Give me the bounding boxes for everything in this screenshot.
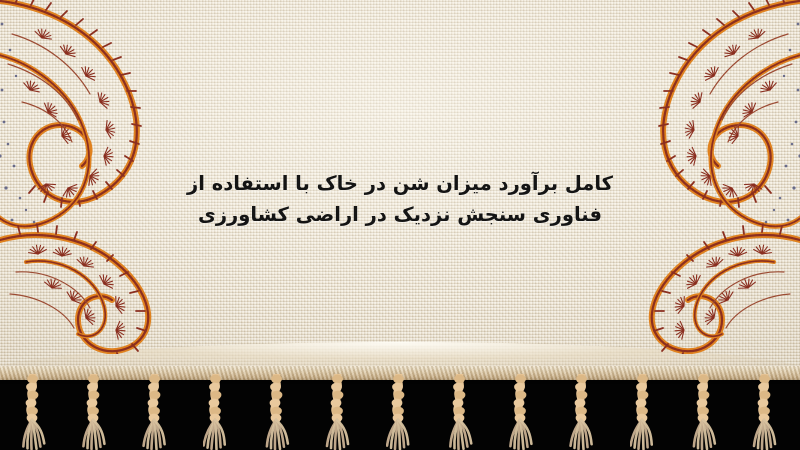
- tassel: [752, 374, 778, 450]
- tassel: [569, 374, 595, 450]
- tassel: [81, 374, 107, 450]
- tassel: [325, 374, 351, 450]
- title-line-2: فناوری سنجش نزدیک در اراضی کشاورزی: [0, 199, 800, 230]
- tassel: [691, 374, 717, 450]
- tassel: [264, 374, 290, 450]
- page-title: کامل برآورد میزان شن در خاک با استفاده ا…: [0, 168, 800, 230]
- tassel: [142, 374, 168, 450]
- tassel: [630, 374, 656, 450]
- tassel: [20, 374, 46, 450]
- lower-black-band: [0, 366, 800, 450]
- tassel: [447, 374, 473, 450]
- tassel: [203, 374, 229, 450]
- tassel: [508, 374, 534, 450]
- title-line-1: کامل برآورد میزان شن در خاک با استفاده ا…: [0, 168, 800, 199]
- title-card-canvas: کامل برآورد میزان شن در خاک با استفاده ا…: [0, 0, 800, 450]
- tassel: [386, 374, 412, 450]
